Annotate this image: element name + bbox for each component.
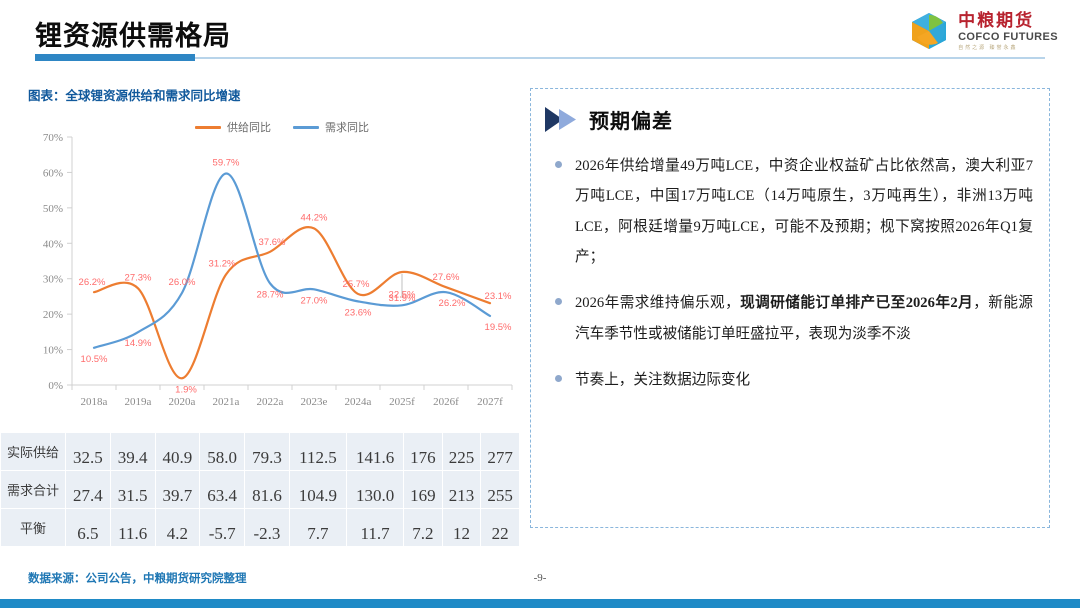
table-cell: 11.7 bbox=[346, 509, 403, 547]
legend-label: 需求同比 bbox=[325, 119, 369, 135]
table-cell: 63.4 bbox=[200, 471, 245, 509]
bullet-text-span: 2026年供给增量49万吨LCE，中资企业权益矿占比依然高，澳大利亚7万吨LCE… bbox=[575, 158, 1033, 265]
bullet-text: 2026年供给增量49万吨LCE，中资企业权益矿占比依然高，澳大利亚7万吨LCE… bbox=[575, 151, 1033, 272]
data-label: 27.6% bbox=[433, 272, 460, 283]
bullet-text-emphasis: 现调研储能订单排产已至2026年2月 bbox=[740, 295, 973, 311]
x-tick-label: 2020a bbox=[169, 396, 196, 408]
x-tick-label: 2019a bbox=[125, 396, 152, 408]
data-label: 27.0% bbox=[301, 295, 328, 306]
chart-canvas: 0%10%20%30%40%50%60%70%2018a2019a2020a20… bbox=[20, 105, 520, 425]
table-row-header: 实际供给 bbox=[1, 433, 66, 471]
data-label: 14.9% bbox=[125, 338, 152, 349]
data-label: 25.7% bbox=[343, 279, 370, 290]
y-tick-label: 70% bbox=[43, 132, 63, 144]
logo-name-cn: 中粮期货 bbox=[958, 12, 1058, 29]
y-tick-label: 30% bbox=[43, 274, 63, 286]
logo-tagline: 自然之源 臻誉永鑫 bbox=[958, 46, 1058, 51]
chart-caption: 图表：全球锂资源供给和需求同比增速 bbox=[28, 85, 241, 104]
data-label: 37.6% bbox=[259, 237, 286, 248]
legend-swatch bbox=[293, 126, 319, 129]
bullet-text: 节奏上，关注数据边际变化 bbox=[575, 365, 750, 395]
play-triangle-icon bbox=[545, 106, 579, 133]
table-cell: 39.4 bbox=[110, 433, 155, 471]
bullet-item-2: 节奏上，关注数据边际变化 bbox=[555, 365, 1033, 395]
table-cell: -2.3 bbox=[245, 509, 290, 547]
table-cell: 58.0 bbox=[200, 433, 245, 471]
table-cell: 255 bbox=[481, 471, 520, 509]
table-cell: 7.7 bbox=[289, 509, 346, 547]
x-tick-label: 2022a bbox=[257, 396, 284, 408]
data-label: 26.2% bbox=[439, 298, 466, 309]
chart-legend: 供给同比需求同比 bbox=[195, 119, 369, 135]
bullet-text-span: 2026年需求维持偏乐观， bbox=[575, 295, 740, 311]
data-label: 31.2% bbox=[209, 258, 236, 269]
cube-logo-icon bbox=[908, 10, 950, 52]
series-line-0 bbox=[94, 227, 490, 378]
y-tick-label: 10% bbox=[43, 345, 63, 357]
panel-header: 预期偏差 bbox=[545, 105, 673, 134]
table-row: 实际供给32.539.440.958.079.3112.5141.6176225… bbox=[1, 433, 520, 471]
table-cell: 7.2 bbox=[404, 509, 443, 547]
table-cell: 169 bbox=[404, 471, 443, 509]
table-cell: 104.9 bbox=[289, 471, 346, 509]
x-tick-label: 2023e bbox=[301, 396, 328, 408]
table-row-header: 平衡 bbox=[1, 509, 66, 547]
y-tick-label: 20% bbox=[43, 309, 63, 321]
supply-demand-table: 实际供给32.539.440.958.079.3112.5141.6176225… bbox=[0, 432, 520, 547]
bullet-dot bbox=[555, 161, 562, 168]
data-label: 1.9% bbox=[175, 384, 197, 395]
table-cell: 141.6 bbox=[346, 433, 403, 471]
table-cell: 176 bbox=[404, 433, 443, 471]
table-cell: 12 bbox=[442, 509, 481, 547]
bullet-text-span: 节奏上，关注数据边际变化 bbox=[575, 372, 750, 388]
y-tick-label: 0% bbox=[48, 380, 63, 392]
table-cell: 39.7 bbox=[155, 471, 200, 509]
bullet-list: 2026年供给增量49万吨LCE，中资企业权益矿占比依然高，澳大利亚7万吨LCE… bbox=[555, 151, 1033, 411]
table-cell: 277 bbox=[481, 433, 520, 471]
bullet-text: 2026年需求维持偏乐观，现调研储能订单排产已至2026年2月，新能源汽车季节性… bbox=[575, 288, 1033, 349]
table-cell: 31.5 bbox=[110, 471, 155, 509]
table-cell: 32.5 bbox=[66, 433, 111, 471]
logo-name-en: COFCO FUTURES bbox=[958, 32, 1058, 43]
footer-bar bbox=[0, 599, 1080, 608]
data-label: 26.0% bbox=[169, 277, 196, 288]
table-cell: 225 bbox=[442, 433, 481, 471]
x-tick-label: 2025f bbox=[389, 396, 415, 408]
expectation-panel: 预期偏差 2026年供给增量49万吨LCE，中资企业权益矿占比依然高，澳大利亚7… bbox=[530, 88, 1050, 528]
slide: 锂资源供需格局 中粮期货 COFCO FUTURES 自然之源 臻誉永鑫 图表：… bbox=[0, 0, 1080, 608]
data-label: 19.5% bbox=[485, 322, 512, 333]
data-label: 27.3% bbox=[125, 272, 152, 283]
bullet-dot bbox=[555, 375, 562, 382]
data-label: 23.1% bbox=[485, 291, 512, 302]
table-cell: 40.9 bbox=[155, 433, 200, 471]
data-label: 22.5% bbox=[389, 289, 416, 300]
data-label: 10.5% bbox=[81, 354, 108, 365]
data-label: 23.6% bbox=[345, 307, 372, 318]
line-chart: 供给同比需求同比 0%10%20%30%40%50%60%70%2018a201… bbox=[20, 105, 520, 425]
logo: 中粮期货 COFCO FUTURES 自然之源 臻誉永鑫 bbox=[908, 10, 1058, 52]
legend-item-1[interactable]: 需求同比 bbox=[293, 119, 369, 135]
table-cell: 79.3 bbox=[245, 433, 290, 471]
x-tick-label: 2024a bbox=[345, 396, 372, 408]
data-label: 28.7% bbox=[257, 289, 284, 300]
table-row: 平衡6.511.64.2-5.7-2.37.711.77.21222 bbox=[1, 509, 520, 547]
table-cell: 130.0 bbox=[346, 471, 403, 509]
data-label: 26.2% bbox=[79, 277, 106, 288]
panel-title: 预期偏差 bbox=[589, 105, 673, 134]
table-cell: 27.4 bbox=[66, 471, 111, 509]
page-title: 锂资源供需格局 bbox=[35, 14, 231, 53]
table-row-header: 需求合计 bbox=[1, 471, 66, 509]
legend-label: 供给同比 bbox=[227, 119, 271, 135]
table-cell: 112.5 bbox=[289, 433, 346, 471]
title-underline-accent bbox=[35, 54, 195, 61]
table-cell: 81.6 bbox=[245, 471, 290, 509]
legend-swatch bbox=[195, 126, 221, 129]
y-tick-label: 60% bbox=[43, 167, 63, 179]
x-tick-label: 2027f bbox=[477, 396, 503, 408]
table-cell: 4.2 bbox=[155, 509, 200, 547]
bullet-item-1: 2026年需求维持偏乐观，现调研储能订单排产已至2026年2月，新能源汽车季节性… bbox=[555, 288, 1033, 349]
y-tick-label: 40% bbox=[43, 238, 63, 250]
table-cell: 22 bbox=[481, 509, 520, 547]
x-tick-label: 2026f bbox=[433, 396, 459, 408]
x-tick-label: 2021a bbox=[213, 396, 240, 408]
bullet-dot bbox=[555, 298, 562, 305]
bullet-item-0: 2026年供给增量49万吨LCE，中资企业权益矿占比依然高，澳大利亚7万吨LCE… bbox=[555, 151, 1033, 272]
table-cell: 11.6 bbox=[110, 509, 155, 547]
logo-text: 中粮期货 COFCO FUTURES 自然之源 臻誉永鑫 bbox=[958, 12, 1058, 51]
legend-item-0[interactable]: 供给同比 bbox=[195, 119, 271, 135]
x-tick-label: 2018a bbox=[81, 396, 108, 408]
table-cell: 6.5 bbox=[66, 509, 111, 547]
page-number: -9- bbox=[0, 572, 1080, 584]
data-label: 59.7% bbox=[213, 157, 240, 168]
table-cell: -5.7 bbox=[200, 509, 245, 547]
table-cell: 213 bbox=[442, 471, 481, 509]
table-row: 需求合计27.431.539.763.481.6104.9130.0169213… bbox=[1, 471, 520, 509]
y-tick-label: 50% bbox=[43, 203, 63, 215]
data-label: 44.2% bbox=[301, 212, 328, 223]
